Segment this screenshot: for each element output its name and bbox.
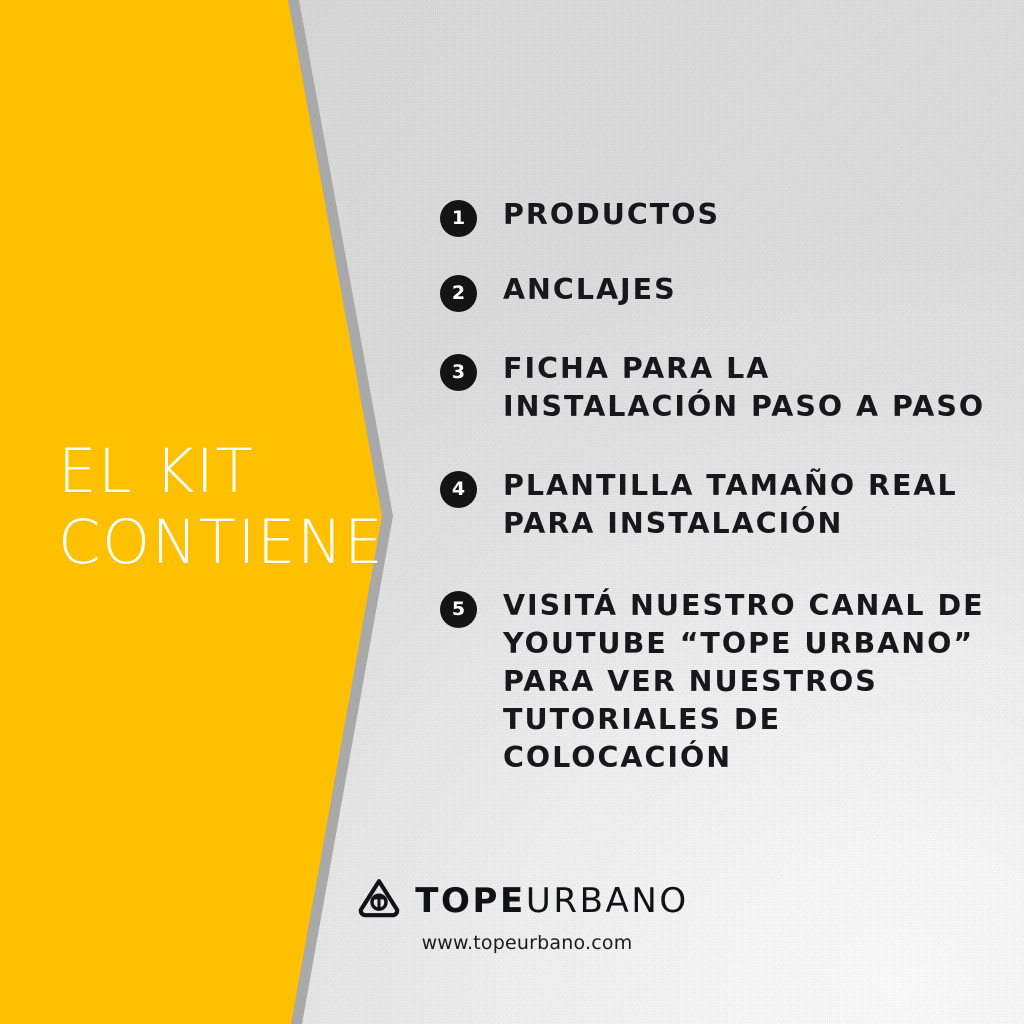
website-url: www.topeurbano.com [422, 932, 633, 954]
list-item: 3 FICHA PARA LA INSTALACIÓN PASO A PASO [440, 350, 1000, 426]
list-item-number-badge: 2 [440, 275, 477, 312]
kit-contents-list: 1 PRODUCTOS 2 ANCLAJES 3 FICHA PARA LA I… [440, 196, 1000, 777]
brand-logo: TOPEURBANO www.topeurbano.com [0, 878, 1024, 954]
list-item: 2 ANCLAJES [440, 271, 1000, 309]
list-item-number-badge: 1 [440, 200, 477, 237]
list-item-label: PRODUCTOS [503, 196, 1000, 234]
logo-word-urbano: URBANO [526, 881, 689, 921]
rounded-triangle-t-icon [357, 878, 401, 923]
list-item-label: VISITÁ NUESTRO CANAL DE YOUTUBE “TOPE UR… [503, 587, 1000, 777]
list-item-number-badge: 4 [440, 471, 477, 508]
list-item-label: ANCLAJES [503, 271, 1000, 309]
list-item: 4 PLANTILLA TAMAÑO REAL PARA INSTALACIÓN [440, 467, 1000, 543]
logo-wordmark: TOPEURBANO [415, 884, 689, 918]
page-title: EL KIT CONTIENE [58, 437, 378, 579]
logo-word-tope: TOPE [415, 881, 526, 921]
list-item-number-badge: 3 [440, 354, 477, 391]
list-item-number-badge: 5 [440, 591, 477, 628]
list-item: 5 VISITÁ NUESTRO CANAL DE YOUTUBE “TOPE … [440, 587, 1000, 777]
poster-canvas: EL KIT CONTIENE 1 PRODUCTOS 2 ANCLAJES 3… [0, 0, 1024, 1024]
list-item-label: FICHA PARA LA INSTALACIÓN PASO A PASO [503, 350, 1000, 426]
list-item-label: PLANTILLA TAMAÑO REAL PARA INSTALACIÓN [503, 467, 1000, 543]
list-item: 1 PRODUCTOS [440, 196, 1000, 234]
logo-lockup: TOPEURBANO [357, 878, 689, 923]
